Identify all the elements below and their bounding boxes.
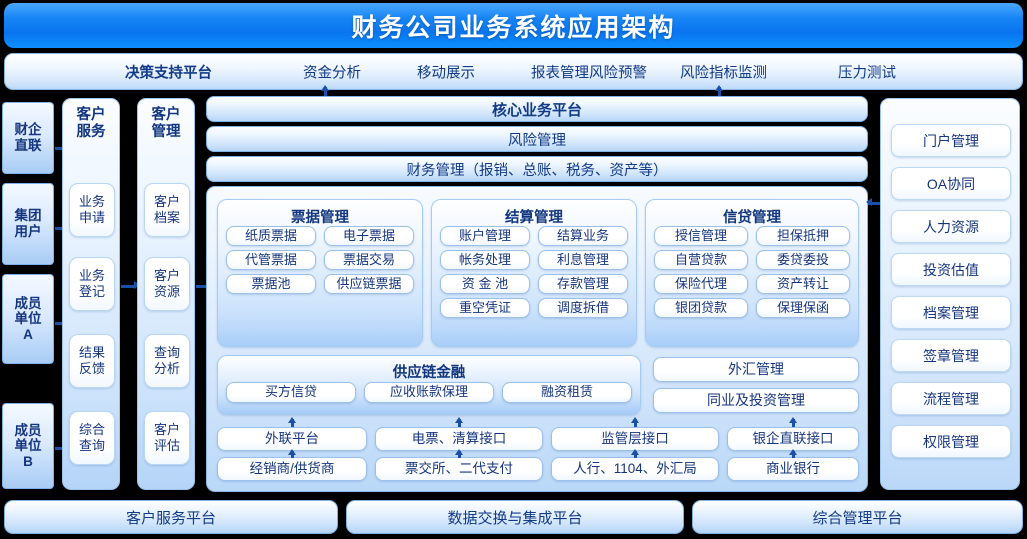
credit-item-5[interactable]: 资产转让: [756, 274, 850, 294]
module-bill-management: 票据管理 纸质票据 电子票据 代管票据 票据交易 票据池 供应链票据: [217, 199, 423, 347]
right-item-1[interactable]: OA协同: [891, 167, 1011, 200]
arrow-iface-2: [631, 449, 639, 455]
iface-r2-3[interactable]: 商业银行: [727, 457, 859, 481]
customer-management-column: 客户管理 客户档案 客户资源 查询分析 客户评估: [137, 98, 195, 490]
arrow-core-nav-1: [715, 85, 723, 91]
risk-management-band: 风险管理: [206, 126, 868, 152]
mgmt-item-3[interactable]: 客户评估: [144, 411, 190, 465]
right-item-3[interactable]: 投资估值: [891, 253, 1011, 286]
nav-item-1[interactable]: 资金分析: [303, 61, 361, 82]
right-item-5[interactable]: 签章管理: [891, 339, 1011, 372]
credit-item-1[interactable]: 担保抵押: [756, 226, 850, 246]
module-settlement-management: 结算管理 账户管理 结算业务 帐务处理 利息管理 资 金 池 存款管理 重空凭证…: [431, 199, 637, 347]
iface-r2-2[interactable]: 人行、1104、外汇局: [551, 457, 719, 481]
arrow-iface-1: [455, 449, 463, 455]
service-item-3[interactable]: 综合查询: [69, 411, 115, 465]
module-bill-title: 票据管理: [218, 206, 422, 227]
iface-r2-1[interactable]: 票交所、二代支付: [375, 457, 543, 481]
credit-item-4[interactable]: 保险代理: [654, 274, 748, 294]
arrow-mod-iface-2: [631, 417, 639, 423]
customer-service-column: 客户服务 业务申请 业务登记 结果反馈 综合查询: [62, 98, 120, 490]
module-bill-items: 纸质票据 电子票据 代管票据 票据交易 票据池 供应链票据: [226, 226, 414, 294]
module-credit-management: 信贷管理 授信管理 担保抵押 自营贷款 委贷委投 保险代理 资产转让 银团贷款 …: [645, 199, 859, 347]
nav-item-0[interactable]: 决策支持平台: [125, 61, 212, 82]
module-credit-title: 信贷管理: [646, 206, 858, 227]
nav-item-4[interactable]: 风险指标监测: [680, 61, 767, 82]
decision-support-nav-bar: 决策支持平台 资金分析 移动展示 报表管理风险预警 风险指标监测 压力测试: [4, 53, 1023, 90]
bill-item-1[interactable]: 电子票据: [324, 226, 414, 246]
customer-service-title: 客户服务: [63, 107, 119, 142]
architecture-diagram: 财务公司业务系统应用架构 决策支持平台 资金分析 移动展示 报表管理风险预警 风…: [0, 0, 1027, 539]
settlement-item-4[interactable]: 资 金 池: [440, 274, 530, 294]
fx-management-pill[interactable]: 外汇管理: [653, 357, 859, 382]
settlement-item-1[interactable]: 结算业务: [538, 226, 628, 246]
finance-management-band: 财务管理（报销、总账、税务、资产等）: [206, 156, 868, 182]
bill-item-4[interactable]: 票据池: [226, 274, 316, 294]
core-platform-band: 核心业务平台: [206, 96, 868, 122]
arrow-iface-0: [288, 449, 296, 455]
supply-chain-title: 供应链金融: [218, 361, 640, 382]
credit-item-7[interactable]: 保理保函: [756, 298, 850, 318]
arrow-mod-iface-1: [455, 417, 463, 423]
right-item-0[interactable]: 门户管理: [891, 124, 1011, 157]
supply-item-1[interactable]: 应收账款保理: [364, 382, 494, 403]
iface-r1-0[interactable]: 外联平台: [217, 427, 367, 451]
nav-item-2[interactable]: 移动展示: [417, 61, 475, 82]
right-item-7[interactable]: 权限管理: [891, 425, 1011, 458]
bill-item-5[interactable]: 供应链票据: [324, 274, 414, 294]
interbank-investment-pill[interactable]: 同业及投资管理: [653, 388, 859, 413]
settlement-item-2[interactable]: 帐务处理: [440, 250, 530, 270]
service-item-1[interactable]: 业务登记: [69, 257, 115, 311]
service-item-0[interactable]: 业务申请: [69, 183, 115, 237]
service-item-2[interactable]: 结果反馈: [69, 334, 115, 388]
settlement-item-7[interactable]: 调度拆借: [538, 298, 628, 318]
arrow-mod-iface-3: [789, 417, 797, 423]
user-box-0[interactable]: 财企直联: [2, 102, 54, 174]
customer-management-title: 客户管理: [138, 107, 194, 142]
arrow-core-nav-0: [321, 85, 329, 91]
module-supply-chain-finance: 供应链金融 买方信贷 应收账款保理 融资租赁: [217, 355, 641, 415]
arrow-core-right: [866, 198, 872, 206]
arrow-iface-3: [789, 449, 797, 455]
mgmt-item-1[interactable]: 客户资源: [144, 257, 190, 311]
credit-item-0[interactable]: 授信管理: [654, 226, 748, 246]
credit-item-2[interactable]: 自营贷款: [654, 250, 748, 270]
bill-item-3[interactable]: 票据交易: [324, 250, 414, 270]
nav-item-5[interactable]: 压力测试: [838, 61, 896, 82]
bottom-platform-0[interactable]: 客户服务平台: [4, 500, 338, 534]
mgmt-item-0[interactable]: 客户档案: [144, 183, 190, 237]
settlement-item-0[interactable]: 账户管理: [440, 226, 530, 246]
core-modules-container: 票据管理 纸质票据 电子票据 代管票据 票据交易 票据池 供应链票据 结算管理 …: [206, 186, 868, 492]
nav-item-3[interactable]: 报表管理风险预警: [531, 61, 647, 82]
user-box-2[interactable]: 成员单位A: [2, 274, 54, 364]
iface-r2-0[interactable]: 经销商/供货商: [217, 457, 367, 481]
settlement-item-3[interactable]: 利息管理: [538, 250, 628, 270]
user-box-3[interactable]: 成员单位B: [2, 403, 54, 489]
bill-item-2[interactable]: 代管票据: [226, 250, 316, 270]
right-item-2[interactable]: 人力资源: [891, 210, 1011, 243]
bottom-platform-1[interactable]: 数据交换与集成平台: [346, 500, 684, 534]
iface-r1-3[interactable]: 银企直联接口: [727, 427, 859, 451]
user-box-1[interactable]: 集团用户: [2, 183, 54, 265]
arrow-mod-iface-0: [288, 417, 296, 423]
module-settlement-title: 结算管理: [432, 206, 636, 227]
page-title: 财务公司业务系统应用架构: [4, 3, 1023, 48]
settlement-item-6[interactable]: 重空凭证: [440, 298, 530, 318]
support-systems-column: 门户管理 OA协同 人力资源 投资估值 档案管理 签章管理 流程管理 权限管理: [880, 98, 1020, 490]
right-item-6[interactable]: 流程管理: [891, 382, 1011, 415]
settlement-item-5[interactable]: 存款管理: [538, 274, 628, 294]
credit-item-6[interactable]: 银团贷款: [654, 298, 748, 318]
mgmt-item-2[interactable]: 查询分析: [144, 334, 190, 388]
bottom-platform-2[interactable]: 综合管理平台: [692, 500, 1023, 534]
module-settlement-items: 账户管理 结算业务 帐务处理 利息管理 资 金 池 存款管理 重空凭证 调度拆借: [440, 226, 628, 318]
module-credit-items: 授信管理 担保抵押 自营贷款 委贷委投 保险代理 资产转让 银团贷款 保理保函: [654, 226, 850, 318]
iface-r1-1[interactable]: 电票、清算接口: [375, 427, 543, 451]
supply-item-2[interactable]: 融资租赁: [502, 382, 632, 403]
bill-item-0[interactable]: 纸质票据: [226, 226, 316, 246]
iface-r1-2[interactable]: 监管层接口: [551, 427, 719, 451]
right-item-4[interactable]: 档案管理: [891, 296, 1011, 329]
supply-chain-items: 买方信贷 应收账款保理 融资租赁: [226, 382, 632, 403]
credit-item-3[interactable]: 委贷委投: [756, 250, 850, 270]
supply-item-0[interactable]: 买方信贷: [226, 382, 356, 403]
core-business-platform: 核心业务平台 风险管理 财务管理（报销、总账、税务、资产等） 票据管理 纸质票据…: [206, 96, 868, 492]
